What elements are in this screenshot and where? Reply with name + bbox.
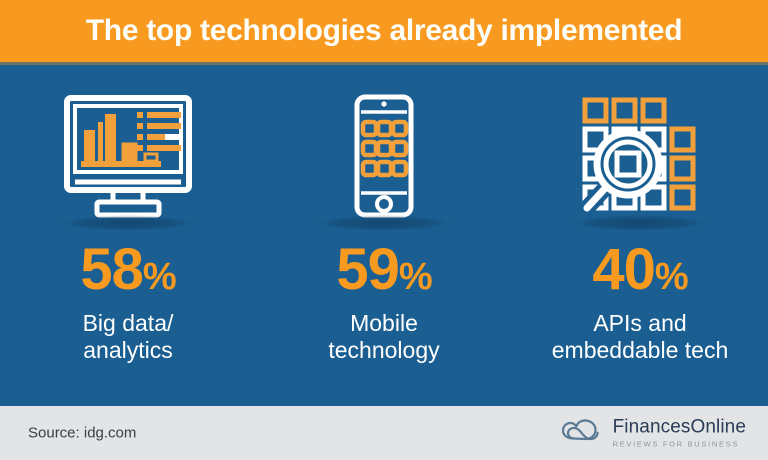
stat-column-mobile: 59% Mobile technology <box>256 65 512 406</box>
mobile-phone-icon-wrap <box>304 87 464 237</box>
stat-value-big-data: 58% <box>80 241 175 299</box>
percent-symbol: % <box>399 256 432 298</box>
magnifier-grid-icon-wrap <box>560 87 720 237</box>
desktop-analytics-icon <box>53 92 203 232</box>
stat-column-big-data: 58% Big data/ analytics <box>0 65 256 406</box>
cloud-infinity-icon <box>560 418 604 448</box>
footer-bar: Source: idg.com FinancesOnline REVIEWS F… <box>0 406 768 460</box>
mobile-phone-icon <box>309 92 459 232</box>
stats-row: 58% Big data/ analytics <box>0 65 768 406</box>
page-title: The top technologies already implemented <box>0 0 768 62</box>
icon-shadow <box>574 215 706 231</box>
logo-text-block: FinancesOnline REVIEWS FOR BUSINESS <box>613 418 746 449</box>
stat-label-mobile: Mobile technology <box>328 310 439 364</box>
percent-symbol: % <box>655 256 688 298</box>
stat-value-mobile: 59% <box>336 241 431 299</box>
stat-value-apis: 40% <box>592 241 687 299</box>
icon-shadow <box>62 215 194 231</box>
stat-number: 40 <box>592 237 655 302</box>
icon-shadow <box>318 215 450 231</box>
stat-column-apis: 40% APIs and embeddable tech <box>512 65 768 406</box>
stat-number: 58 <box>80 237 143 302</box>
source-text: Source: idg.com <box>28 425 136 442</box>
logo-name: FinancesOnline <box>613 418 746 438</box>
stat-label-big-data: Big data/ analytics <box>83 310 174 364</box>
brand-logo[interactable]: FinancesOnline REVIEWS FOR BUSINESS <box>560 418 746 449</box>
stat-label-apis: APIs and embeddable tech <box>552 310 728 364</box>
percent-symbol: % <box>143 256 176 298</box>
logo-tagline: REVIEWS FOR BUSINESS <box>613 439 740 448</box>
desktop-analytics-icon-wrap <box>48 87 208 237</box>
infographic-root: The top technologies already implemented <box>0 0 768 460</box>
stat-number: 59 <box>336 237 399 302</box>
magnifier-grid-icon <box>565 92 715 232</box>
